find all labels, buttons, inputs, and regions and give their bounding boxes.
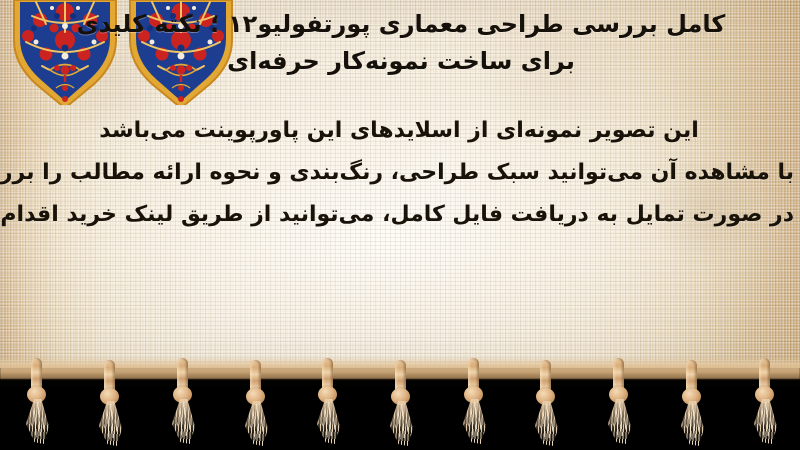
fringe-tassel xyxy=(387,354,413,450)
fringe-tassel xyxy=(532,354,558,450)
fringe-tassel xyxy=(314,352,340,448)
fringe-tassel xyxy=(605,352,631,448)
fringe-tassel xyxy=(169,352,195,448)
body-line-2: با مشاهده آن می‌توانید سبک طراحی، رنگ‌بن… xyxy=(4,152,794,194)
body-line-1: این تصویر نمونه‌ای از اسلایدهای این پاور… xyxy=(4,110,794,152)
title-line-1: کامل بررسی طراحی معماری پورتفولیو۱۲ ؛ نک… xyxy=(16,6,786,43)
title-line-2: برای ساخت نمونه‌کار حرفه‌ای xyxy=(16,43,786,80)
body-line-3: در صورت تمایل به دریافت فایل کامل، می‌تو… xyxy=(4,194,794,236)
fringe-tassel xyxy=(96,354,122,450)
slide-text-layer: کامل بررسی طراحی معماری پورتفولیو۱۲ ؛ نک… xyxy=(0,0,800,382)
slide-body: این تصویر نمونه‌ای از اسلایدهای این پاور… xyxy=(4,110,794,236)
fringe-tassel xyxy=(678,354,704,450)
slide-title: کامل بررسی طراحی معماری پورتفولیو۱۲ ؛ نک… xyxy=(16,6,786,80)
fringe-tassel xyxy=(23,352,49,448)
fringe-tassel xyxy=(242,354,268,450)
presentation-slide: کامل بررسی طراحی معماری پورتفولیو۱۲ ؛ نک… xyxy=(0,0,800,450)
carpet-fringe-tassels xyxy=(0,352,800,450)
fringe-tassel xyxy=(460,352,486,448)
fringe-tassel xyxy=(751,352,777,448)
